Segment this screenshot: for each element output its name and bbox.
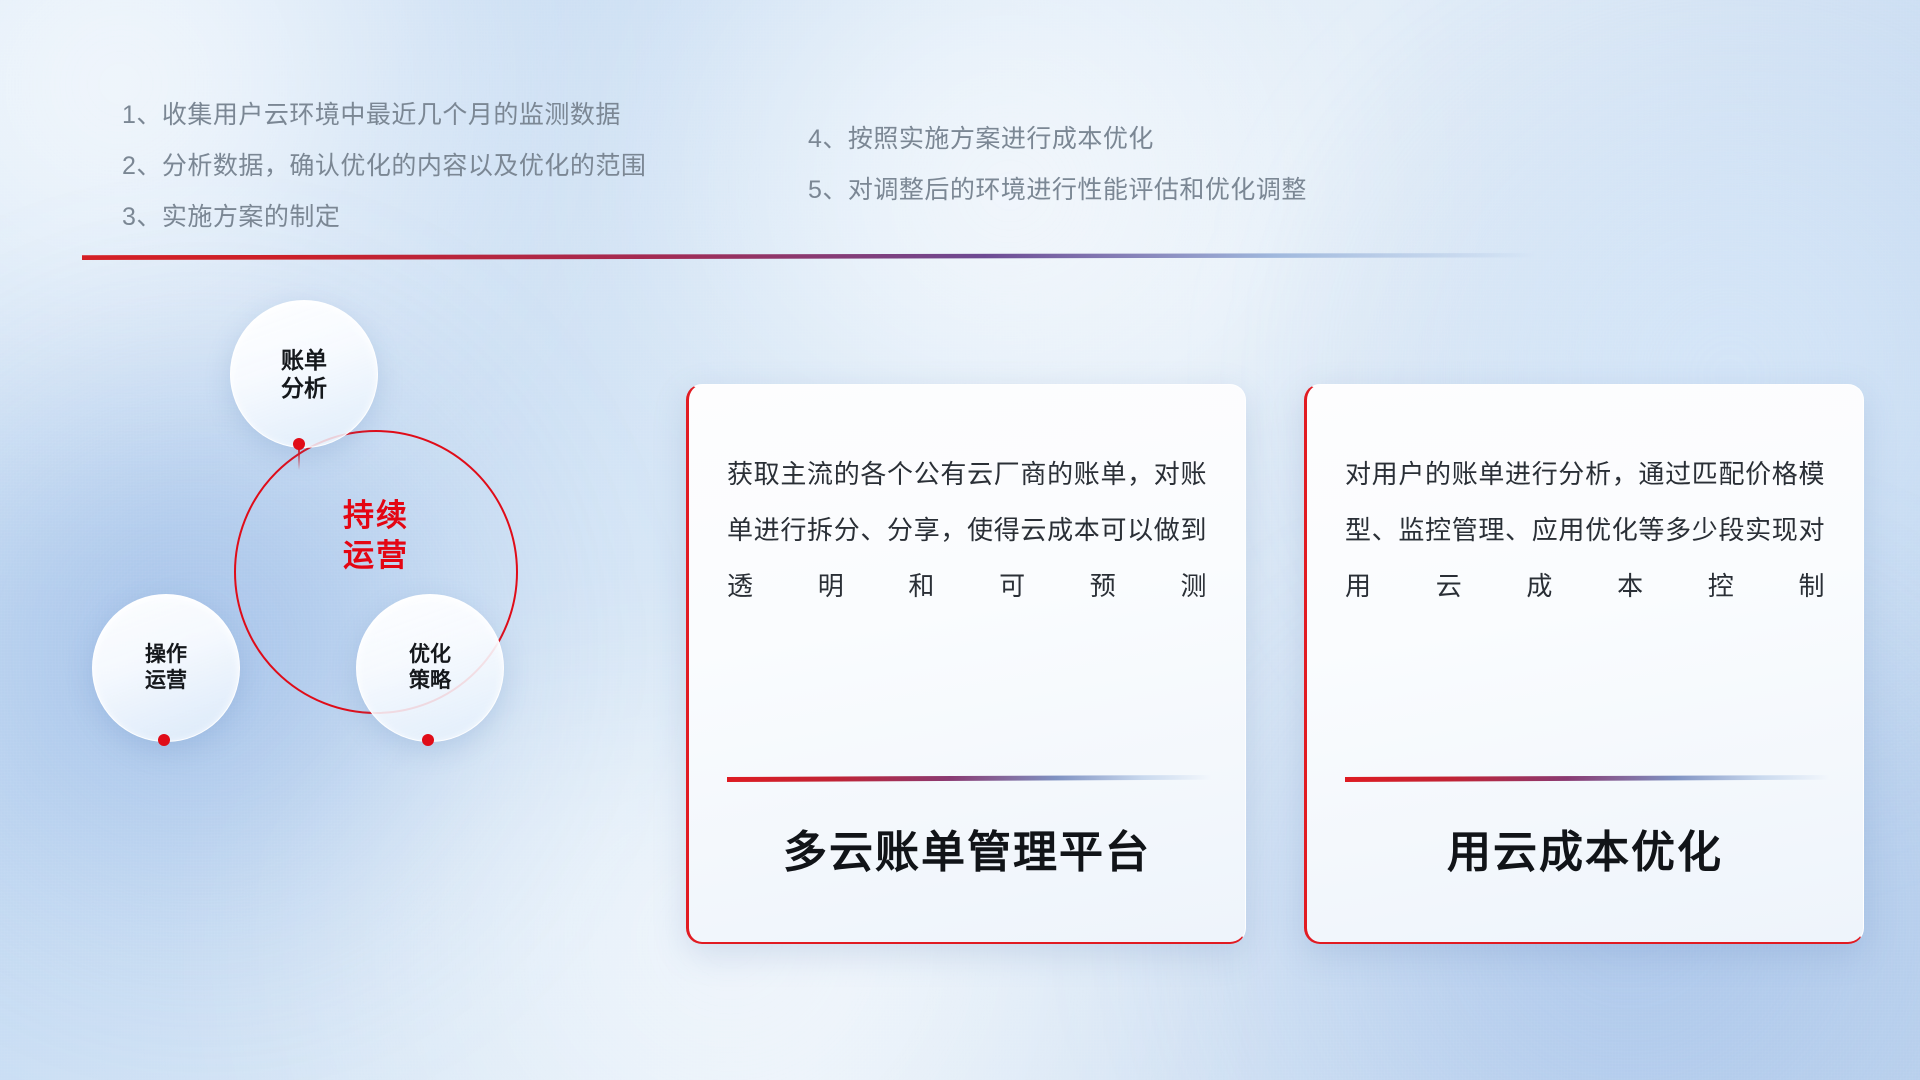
feature-card-divider xyxy=(1345,775,1829,782)
step-item-3: 3、实施方案的制定 xyxy=(122,205,646,230)
steps-list-left: 1、收集用户云环境中最近几个月的监测数据 2、分析数据，确认优化的内容以及优化的… xyxy=(122,103,646,256)
feature-card-divider xyxy=(727,775,1211,782)
cycle-node-bill-analysis-line1: 账单 xyxy=(281,346,327,374)
feature-card-body: 获取主流的各个公有云厂商的账单，对账单进行拆分、分享，使得云成本可以做到透明和可… xyxy=(727,447,1207,615)
step-item-5: 5、对调整后的环境进行性能评估和优化调整 xyxy=(808,178,1307,203)
cycle-center-label-line2: 运营 xyxy=(234,536,518,576)
cycle-dot-top xyxy=(293,438,305,450)
step-item-2: 2、分析数据，确认优化的内容以及优化的范围 xyxy=(122,154,646,179)
cycle-connector-top xyxy=(298,448,300,470)
cycle-node-optimization-strategy-line1: 优化 xyxy=(409,642,451,668)
step-item-1: 1、收集用户云环境中最近几个月的监测数据 xyxy=(122,103,646,128)
feature-card-title: 用云成本优化 xyxy=(1307,816,1863,880)
feature-card-cost-optimization[interactable]: 对用户的账单进行分析，通过匹配价格模型、监控管理、应用优化等多少段实现对用云成本… xyxy=(1304,384,1864,944)
steps-list-right: 4、按照实施方案进行成本优化 5、对调整后的环境进行性能评估和优化调整 xyxy=(808,127,1307,229)
feature-card-multicloud-billing[interactable]: 获取主流的各个公有云厂商的账单，对账单进行拆分、分享，使得云成本可以做到透明和可… xyxy=(686,384,1246,944)
cycle-diagram: 持续 运营 账单 分析 操作 运营 优化 策略 xyxy=(78,288,548,768)
cycle-node-operations-line1: 操作 xyxy=(145,642,187,668)
feature-card-title: 多云账单管理平台 xyxy=(689,816,1245,880)
cycle-node-bill-analysis[interactable]: 账单 分析 xyxy=(230,300,378,448)
step-item-4: 4、按照实施方案进行成本优化 xyxy=(808,127,1307,152)
slide-canvas: 1、收集用户云环境中最近几个月的监测数据 2、分析数据，确认优化的内容以及优化的… xyxy=(0,0,1920,1080)
cycle-dot-right xyxy=(422,734,434,746)
cycle-node-operations[interactable]: 操作 运营 xyxy=(92,594,240,742)
cycle-node-operations-line2: 运营 xyxy=(145,668,187,694)
cycle-node-optimization-strategy-line2: 策略 xyxy=(409,668,451,694)
cycle-center-label-line1: 持续 xyxy=(234,496,518,536)
cycle-dot-left xyxy=(158,734,170,746)
cycle-center-label: 持续 运营 xyxy=(234,496,518,577)
cycle-node-optimization-strategy[interactable]: 优化 策略 xyxy=(356,594,504,742)
feature-card-body: 对用户的账单进行分析，通过匹配价格模型、监控管理、应用优化等多少段实现对用云成本… xyxy=(1345,447,1825,615)
cycle-node-bill-analysis-line2: 分析 xyxy=(281,374,327,402)
